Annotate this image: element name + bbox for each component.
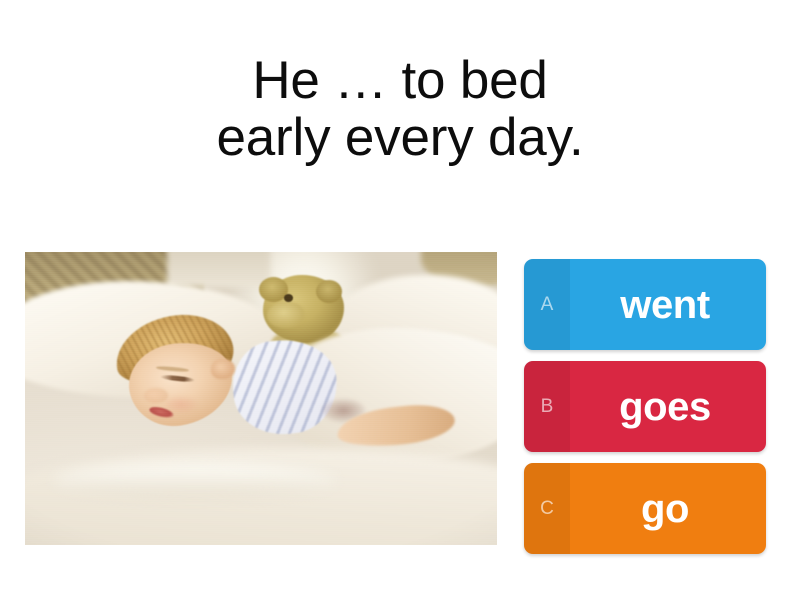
answer-label-b: goes (570, 361, 766, 452)
answer-letter-a: A (541, 295, 554, 314)
answer-letter-b: B (541, 397, 554, 416)
answer-letter-c: C (540, 499, 554, 518)
photo-grain (25, 252, 497, 545)
answer-option-a[interactable]: A went (524, 259, 766, 350)
answer-options-list: A went B goes C go (524, 259, 766, 554)
answer-label-c: go (570, 463, 766, 554)
answer-letter-panel-b: B (524, 361, 570, 452)
answer-label-a: went (570, 259, 766, 350)
answer-option-c[interactable]: C go (524, 463, 766, 554)
answer-letter-panel-a: A (524, 259, 570, 350)
question-text: He … to bed early every day. (40, 52, 760, 166)
question-image (25, 252, 497, 545)
answer-option-b[interactable]: B goes (524, 361, 766, 452)
quiz-slide: He … to bed early every day. (0, 0, 800, 600)
answer-letter-panel-c: C (524, 463, 570, 554)
